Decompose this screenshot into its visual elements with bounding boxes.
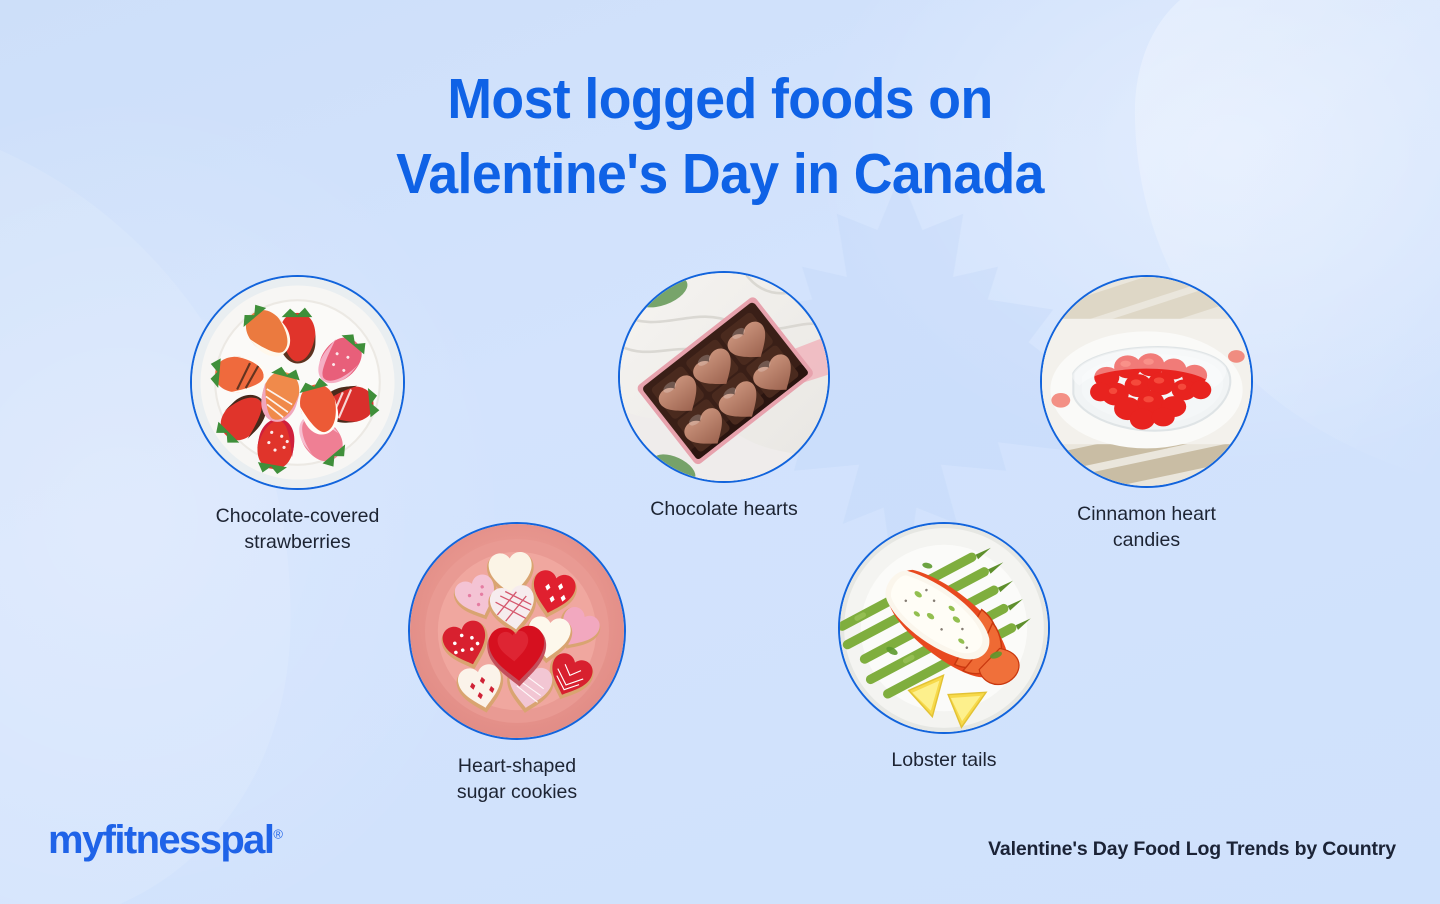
food-image-heart-shaped-sugar-cookies <box>408 522 626 740</box>
food-caption-cinnamon-heart-candies: Cinnamon heart candies <box>1040 502 1253 553</box>
footer-tagline: Valentine's Day Food Log Trends by Count… <box>988 838 1396 861</box>
food-image-chocolate-covered-strawberries <box>190 275 405 490</box>
food-item-heart-shaped-sugar-cookies: Heart-shaped sugar cookies <box>408 522 626 805</box>
infographic-canvas: Most logged foods on Valentine's Day in … <box>0 0 1440 904</box>
food-image-lobster-tails <box>838 522 1050 734</box>
heart-shaped-sugar-cookies-illustration <box>410 524 624 738</box>
food-caption-lobster-tails: Lobster tails <box>838 748 1050 774</box>
food-caption-chocolate-hearts: Chocolate hearts <box>618 497 830 523</box>
food-item-chocolate-covered-strawberries: Chocolate-covered strawberries <box>190 275 405 555</box>
myfitnesspal-logo: myfitnesspal® <box>48 820 283 860</box>
food-item-cinnamon-heart-candies: Cinnamon heart candies <box>1040 275 1253 553</box>
chocolate-hearts-illustration <box>620 273 828 481</box>
page-title: Most logged foods on Valentine's Day in … <box>43 62 1397 212</box>
food-item-chocolate-hearts: Chocolate hearts <box>618 271 830 523</box>
food-caption-chocolate-covered-strawberries: Chocolate-covered strawberries <box>190 504 405 555</box>
chocolate-covered-strawberries-illustration <box>192 277 403 488</box>
cinnamon-heart-candies-illustration <box>1042 277 1251 486</box>
brand-name: myfitnesspal <box>48 818 273 862</box>
food-image-chocolate-hearts <box>618 271 830 483</box>
food-item-lobster-tails: Lobster tails <box>838 522 1050 774</box>
lobster-tails-illustration <box>840 524 1048 732</box>
food-image-cinnamon-heart-candies <box>1040 275 1253 488</box>
food-caption-heart-shaped-sugar-cookies: Heart-shaped sugar cookies <box>408 754 626 805</box>
registered-trademark-icon: ® <box>273 827 283 842</box>
